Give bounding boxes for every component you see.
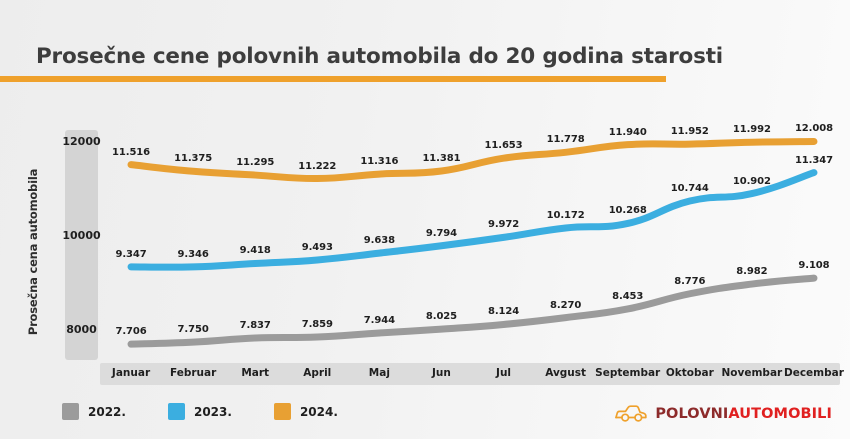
x-axis-tick-novembar: Novembar (722, 367, 783, 379)
legend-swatch (274, 403, 291, 420)
data-label: 9.347 (115, 249, 146, 260)
y-axis-tick: 12000 (60, 135, 103, 148)
data-label: 10.744 (671, 183, 709, 194)
legend-label: 2024. (300, 405, 338, 419)
series-line-2023 (131, 173, 814, 268)
data-label: 11.375 (174, 153, 212, 164)
x-axis-tick-maj: Maj (369, 367, 390, 379)
legend-label: 2023. (194, 405, 232, 419)
data-label: 11.222 (298, 161, 336, 172)
y-axis-label: Prosečna cena automobila (26, 157, 40, 347)
data-label: 11.952 (671, 126, 709, 137)
data-label: 8.025 (426, 311, 457, 322)
chart-legend: 2022.2023.2024. (62, 403, 338, 420)
chart-page: Prosečne cene polovnih automobila do 20 … (0, 0, 850, 439)
data-label: 11.316 (360, 156, 398, 167)
data-label: 7.859 (302, 319, 333, 330)
data-label: 12.008 (795, 123, 833, 134)
series-line-2024 (131, 141, 814, 178)
car-icon (614, 404, 648, 424)
data-label: 11.516 (112, 147, 150, 158)
data-label: 7.944 (364, 315, 395, 326)
data-label: 10.268 (609, 205, 647, 216)
series-line-2022 (131, 278, 814, 344)
brand-logo[interactable]: POLOVNIAUTOMOBILI (614, 404, 832, 424)
data-label: 9.346 (178, 249, 209, 260)
data-label: 8.453 (612, 291, 643, 302)
data-label: 8.124 (488, 306, 519, 317)
legend-item-2022[interactable]: 2022. (62, 403, 126, 420)
logo-wordmark: POLOVNIAUTOMOBILI (655, 406, 832, 422)
data-label: 11.778 (547, 134, 585, 145)
data-label: 8.982 (736, 266, 767, 277)
data-label: 9.418 (240, 245, 271, 256)
x-axis-tick-jun: Jun (432, 367, 451, 379)
data-label: 8.270 (550, 300, 581, 311)
x-axis-tick-avgust: Avgust (545, 367, 586, 379)
data-label: 10.902 (733, 176, 771, 187)
x-axis-tick-mart: Mart (241, 367, 269, 379)
data-label: 11.381 (422, 153, 460, 164)
x-axis-tick-oktobar: Oktobar (666, 367, 714, 379)
legend-swatch (62, 403, 79, 420)
x-axis-tick-septembar: Septembar (595, 367, 660, 379)
x-axis-tick-decembar: Decembar (784, 367, 844, 379)
data-label: 8.776 (674, 276, 705, 287)
data-label: 9.972 (488, 219, 519, 230)
data-label: 11.992 (733, 124, 771, 135)
data-label: 7.706 (115, 326, 146, 337)
data-label: 11.295 (236, 157, 274, 168)
legend-item-2024[interactable]: 2024. (274, 403, 338, 420)
data-label: 7.750 (178, 324, 209, 335)
x-axis-tick-april: April (303, 367, 331, 379)
data-label: 9.794 (426, 228, 457, 239)
plot-region: 7.7067.7507.8377.8597.9448.0258.1248.270… (100, 123, 845, 368)
page-title: Prosečne cene polovnih automobila do 20 … (36, 44, 723, 69)
y-axis-tick: 8000 (60, 323, 103, 336)
legend-label: 2022. (88, 405, 126, 419)
y-axis-tick: 10000 (60, 229, 103, 242)
legend-swatch (168, 403, 185, 420)
data-label: 9.638 (364, 235, 395, 246)
x-axis-tick-jul: Jul (496, 367, 511, 379)
x-axis-tick-januar: Januar (112, 367, 150, 379)
logo-text-secondary: AUTOMOBILI (728, 406, 832, 422)
data-label: 10.172 (547, 210, 585, 221)
data-label: 11.347 (795, 155, 833, 166)
data-label: 9.493 (302, 242, 333, 253)
data-label: 9.108 (798, 260, 829, 271)
x-axis-tick-februar: Februar (170, 367, 216, 379)
title-underline-rule (0, 76, 666, 82)
chart-area: Prosečna cena automobila 80001000012000 … (0, 95, 850, 385)
legend-item-2023[interactable]: 2023. (168, 403, 232, 420)
data-label: 11.653 (485, 140, 523, 151)
data-label: 11.940 (609, 127, 647, 138)
data-label: 7.837 (240, 320, 271, 331)
logo-text-primary: POLOVNI (655, 406, 728, 422)
